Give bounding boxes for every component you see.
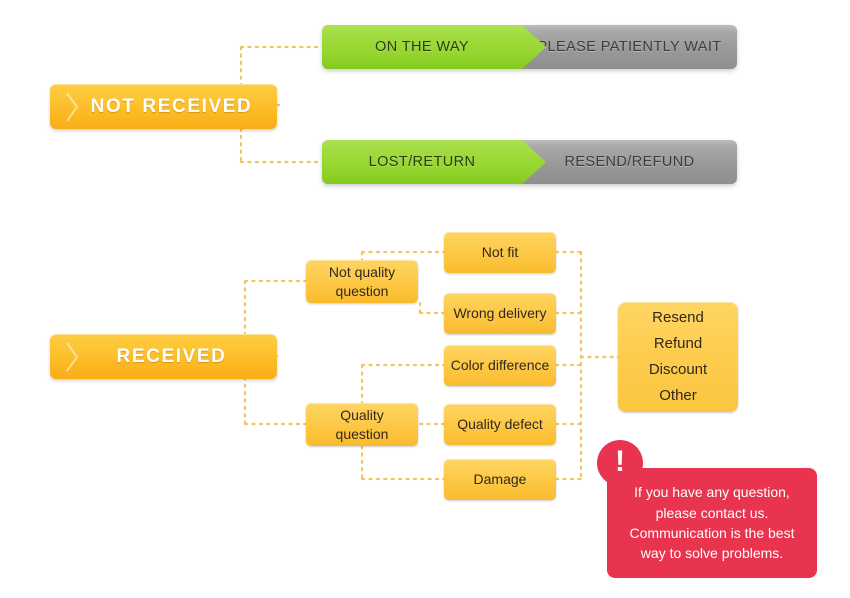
category-tab-received[interactable]: RECEIVED [50,334,277,379]
resolution-option-resend: Resend [652,305,704,331]
status-cause-lost-return: LOST/RETURN [322,140,522,184]
alert-icon: ! [597,440,643,486]
branch-quality-question[interactable]: Quality question [306,403,418,446]
status-bar-on-the-way: PLEASE PATIENTLY WAIT ON THE WAY [322,25,737,69]
category-label: RECEIVED [101,346,227,368]
resolution-option-discount: Discount [649,357,707,383]
reason-label: Quality defect [457,415,543,433]
exclamation-glyph: ! [615,447,625,477]
notice-line-2: please contact us. [630,503,795,523]
reason-label: Wrong delivery [453,304,546,322]
reason-label: Not fit [482,243,519,261]
chevron-right-icon [64,342,80,372]
notice-line-4: way to solve problems. [630,543,795,563]
reason-wrong-delivery[interactable]: Wrong delivery [444,293,556,334]
reason-color-difference[interactable]: Color difference [444,345,556,386]
reason-not-fit[interactable]: Not fit [444,232,556,273]
resolution-options-box[interactable]: Resend Refund Discount Other [618,302,738,412]
status-action-resend-refund: RESEND/REFUND [522,140,737,184]
reason-quality-defect[interactable]: Quality defect [444,404,556,445]
branch-label-line1: Not quality [329,263,395,281]
category-tab-not-received[interactable]: NOT RECEIVED [50,84,277,129]
notice-line-3: Communication is the best [630,523,795,543]
reason-damage[interactable]: Damage [444,459,556,500]
contact-notice: If you have any question, please contact… [607,468,817,578]
flowchart-canvas: NOT RECEIVED PLEASE PATIENTLY WAIT ON TH… [0,0,850,598]
resolution-option-refund: Refund [654,331,702,357]
reason-label: Color difference [451,356,550,374]
branch-label-line2: question [336,282,389,300]
notice-line-1: If you have any question, [630,482,795,502]
status-cause-on-the-way: ON THE WAY [322,25,522,69]
status-bar-lost-return: RESEND/REFUND LOST/RETURN [322,140,737,184]
resolution-option-other: Other [659,383,697,409]
status-action-please-patiently-wait: PLEASE PATIENTLY WAIT [522,25,737,69]
category-label: NOT RECEIVED [75,96,253,118]
branch-not-quality-question[interactable]: Not quality question [306,260,418,303]
reason-label: Damage [474,470,527,488]
branch-label: Quality question [312,406,412,442]
